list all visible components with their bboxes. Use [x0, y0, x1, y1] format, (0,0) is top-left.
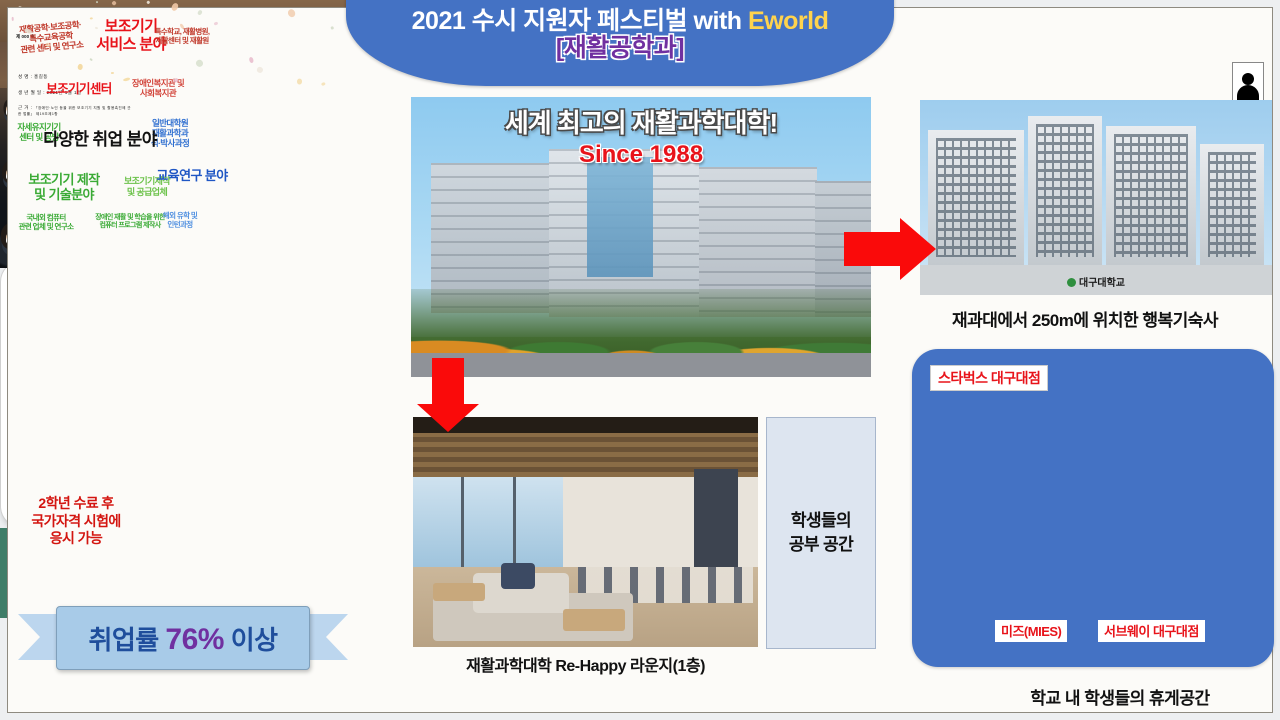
- campus-photo: 세계 최고의 재활과학대학! Since 1988: [411, 97, 871, 377]
- campus-headline-group: 세계 최고의 재활과학대학! Since 1988: [411, 103, 871, 169]
- cert-note-line-1: 2학년 수료 후: [0, 495, 152, 513]
- window-mullion: [513, 477, 516, 567]
- dorm-tower-left: [928, 130, 1024, 265]
- row-label: 근 거 :: [18, 105, 32, 110]
- lounge-photo: [413, 417, 758, 647]
- dormitory-photo: 대구대학교: [920, 100, 1272, 295]
- dorm-tower-center: [1028, 116, 1102, 265]
- person-silhouette-icon: [1237, 85, 1259, 101]
- dorm-tower-right: [1106, 126, 1196, 265]
- certificate-row-basis: 근 거 : 「장애인·노인 등을 위한 보조기기 지원 및 활용촉진에 관한 법…: [18, 105, 134, 117]
- mies-label-text: 미즈(MIES): [1001, 624, 1061, 639]
- row-value: 「장애인·노인 등을 위한 보조기기 지원 및 활용촉진에 관한 법률」 제19…: [18, 106, 131, 116]
- dorm-tower-far-right: [1200, 144, 1264, 265]
- employment-rate-text: 취업률 76% 이상: [88, 620, 277, 657]
- employment-rate-ribbon: 취업률 76% 이상: [18, 606, 348, 668]
- study-label-line-2: 공부 공간: [789, 533, 853, 557]
- glass-atrium: [587, 157, 653, 277]
- rest-area-panel: [912, 349, 1274, 667]
- university-logo: 대구대학교: [1067, 274, 1125, 289]
- title-line-1: 2021 수시 지원자 페스티벌 with Eworld: [346, 8, 894, 34]
- ribbon-body: 취업률 76% 이상: [56, 606, 310, 670]
- rest-area-caption: 학교 내 학생들의 휴게공간: [960, 684, 1280, 709]
- certificate-note: 2학년 수료 후 국가자격 시험에 응시 가능: [0, 495, 152, 548]
- subway-label: 서브웨이 대구대점: [1098, 620, 1205, 642]
- lounge-window: [413, 477, 563, 567]
- starbucks-label-text: 스타벅스 대구대점: [938, 370, 1040, 386]
- rate-prefix: 취업률: [88, 625, 165, 655]
- window-mullion: [461, 477, 464, 567]
- title-line-2: [재활공학과]: [346, 34, 894, 63]
- slide-canvas: “대구대 재활공학과, 제1회 보조공학사 국가시험서 전원 합격!” E-대학…: [0, 0, 1280, 720]
- cert-note-line-2: 국가자격 시험에: [0, 513, 152, 531]
- study-label-line-1: 학생들의: [791, 509, 851, 533]
- starbucks-label: 스타벅스 대구대점: [930, 365, 1048, 391]
- red-arrow-down: [415, 358, 481, 432]
- dormitory-caption: 재과대에서 250m에 위치한 행복기숙사: [890, 306, 1280, 331]
- mies-label: 미즈(MIES): [995, 620, 1067, 642]
- title-prefix: 2021 수시 지원자 페스티벌 with: [412, 7, 748, 35]
- lounge-caption: 재활과학대학 Re-Happy 라운지(1층): [413, 652, 758, 676]
- coffee-table-right: [563, 609, 625, 631]
- rate-value: 76%: [165, 623, 224, 656]
- title-banner: 2021 수시 지원자 페스티벌 with Eworld [재활공학과]: [346, 0, 894, 86]
- red-arrow-right: [844, 216, 936, 282]
- subway-label-text: 서브웨이 대구대점: [1104, 624, 1199, 639]
- cushion: [501, 563, 535, 589]
- study-space-label: 학생들의 공부 공간: [766, 417, 876, 649]
- title-highlight: Eworld: [748, 7, 828, 35]
- rate-suffix: 이상: [224, 625, 278, 655]
- logo-mark-icon: [1067, 278, 1076, 287]
- coffee-table-left: [433, 583, 485, 601]
- cert-note-line-3: 응시 가능: [0, 530, 152, 548]
- logo-text: 대구대학교: [1079, 278, 1125, 289]
- campus-headline: 세계 최고의 재활과학대학!: [411, 103, 871, 140]
- campus-subline: Since 1988: [411, 141, 871, 169]
